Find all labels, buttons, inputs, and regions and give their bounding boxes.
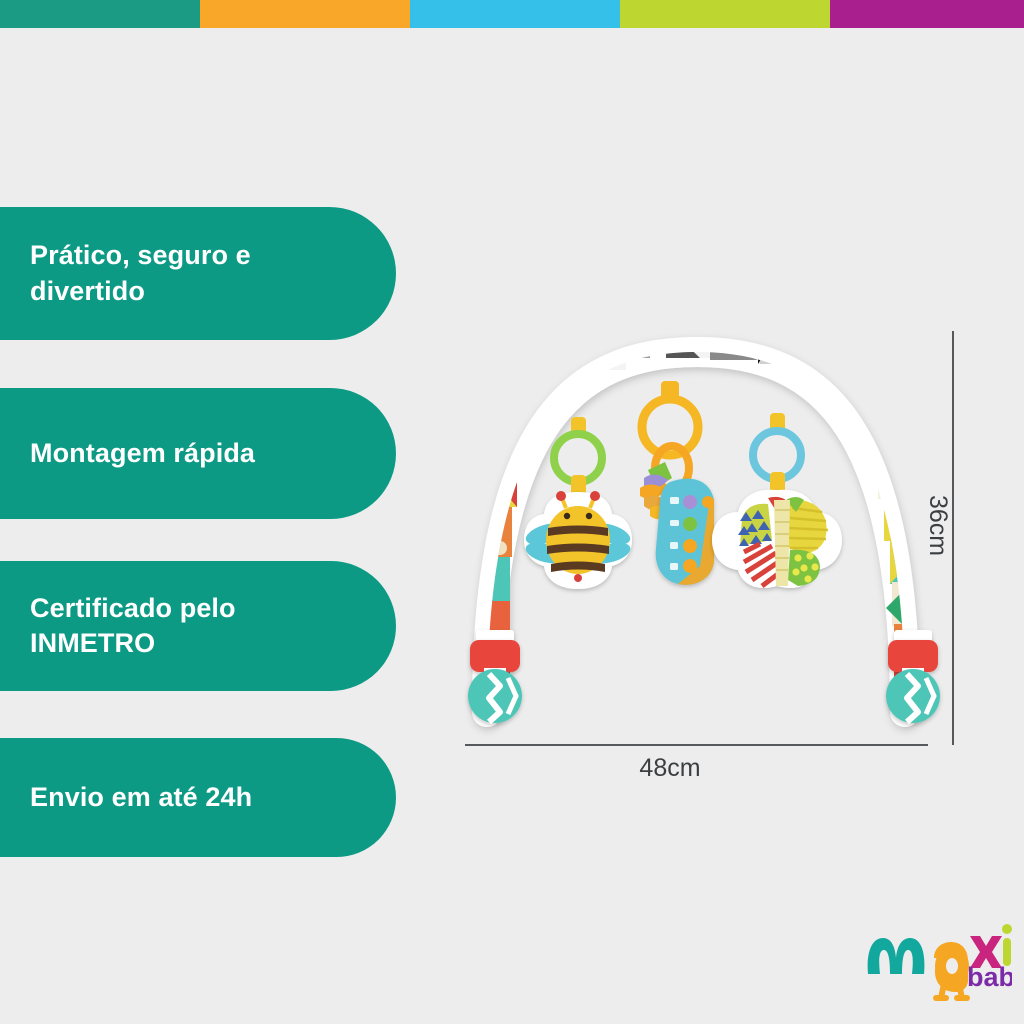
logo-letter-m [868, 938, 925, 974]
svg-text:baby: baby [967, 962, 1012, 992]
hanging-toy-butterfly [712, 413, 842, 588]
hanging-toy-bee [523, 417, 633, 589]
feature-pill-pratico-seguro-divertido: Prático, seguro e divertido [0, 207, 396, 340]
logo-word-baby: baby [967, 962, 1012, 992]
top-bar-segment-magenta [830, 0, 1024, 28]
top-bar-segment-orange [200, 0, 410, 28]
top-bar-segment-cyan [410, 0, 620, 28]
arch-foot-right [886, 630, 940, 723]
top-bar-segment-teal [0, 0, 200, 28]
feature-pill-label: Certificado pelo INMETRO [30, 591, 236, 661]
dimension-line-horizontal [465, 744, 928, 746]
top-bar-segment-lime [620, 0, 830, 28]
feature-pill-label: Envio em até 24h [30, 780, 252, 815]
dimension-label-width: 48cm [600, 754, 740, 783]
logo-letter-a [934, 942, 969, 998]
arch-foot-left [468, 630, 522, 723]
feature-pill-certificado-inmetro: Certificado pelo INMETRO [0, 561, 396, 691]
feature-pill-label: Montagem rápida [30, 436, 255, 471]
feature-pill-envio-24h: Envio em até 24h [0, 738, 396, 857]
dimension-line-vertical [952, 331, 954, 745]
hanging-toy-remote [640, 381, 714, 585]
logo-letter-i [1002, 924, 1012, 966]
feature-pill-label: Prático, seguro e divertido [30, 238, 251, 308]
gym-arch-tube [470, 288, 936, 712]
feature-pill-montagem-rapida: Montagem rápida [0, 388, 396, 519]
top-color-bar [0, 0, 1024, 28]
dimension-label-height: 36cm [923, 495, 952, 556]
brand-logo-maxibaby: baby [862, 918, 1012, 1002]
